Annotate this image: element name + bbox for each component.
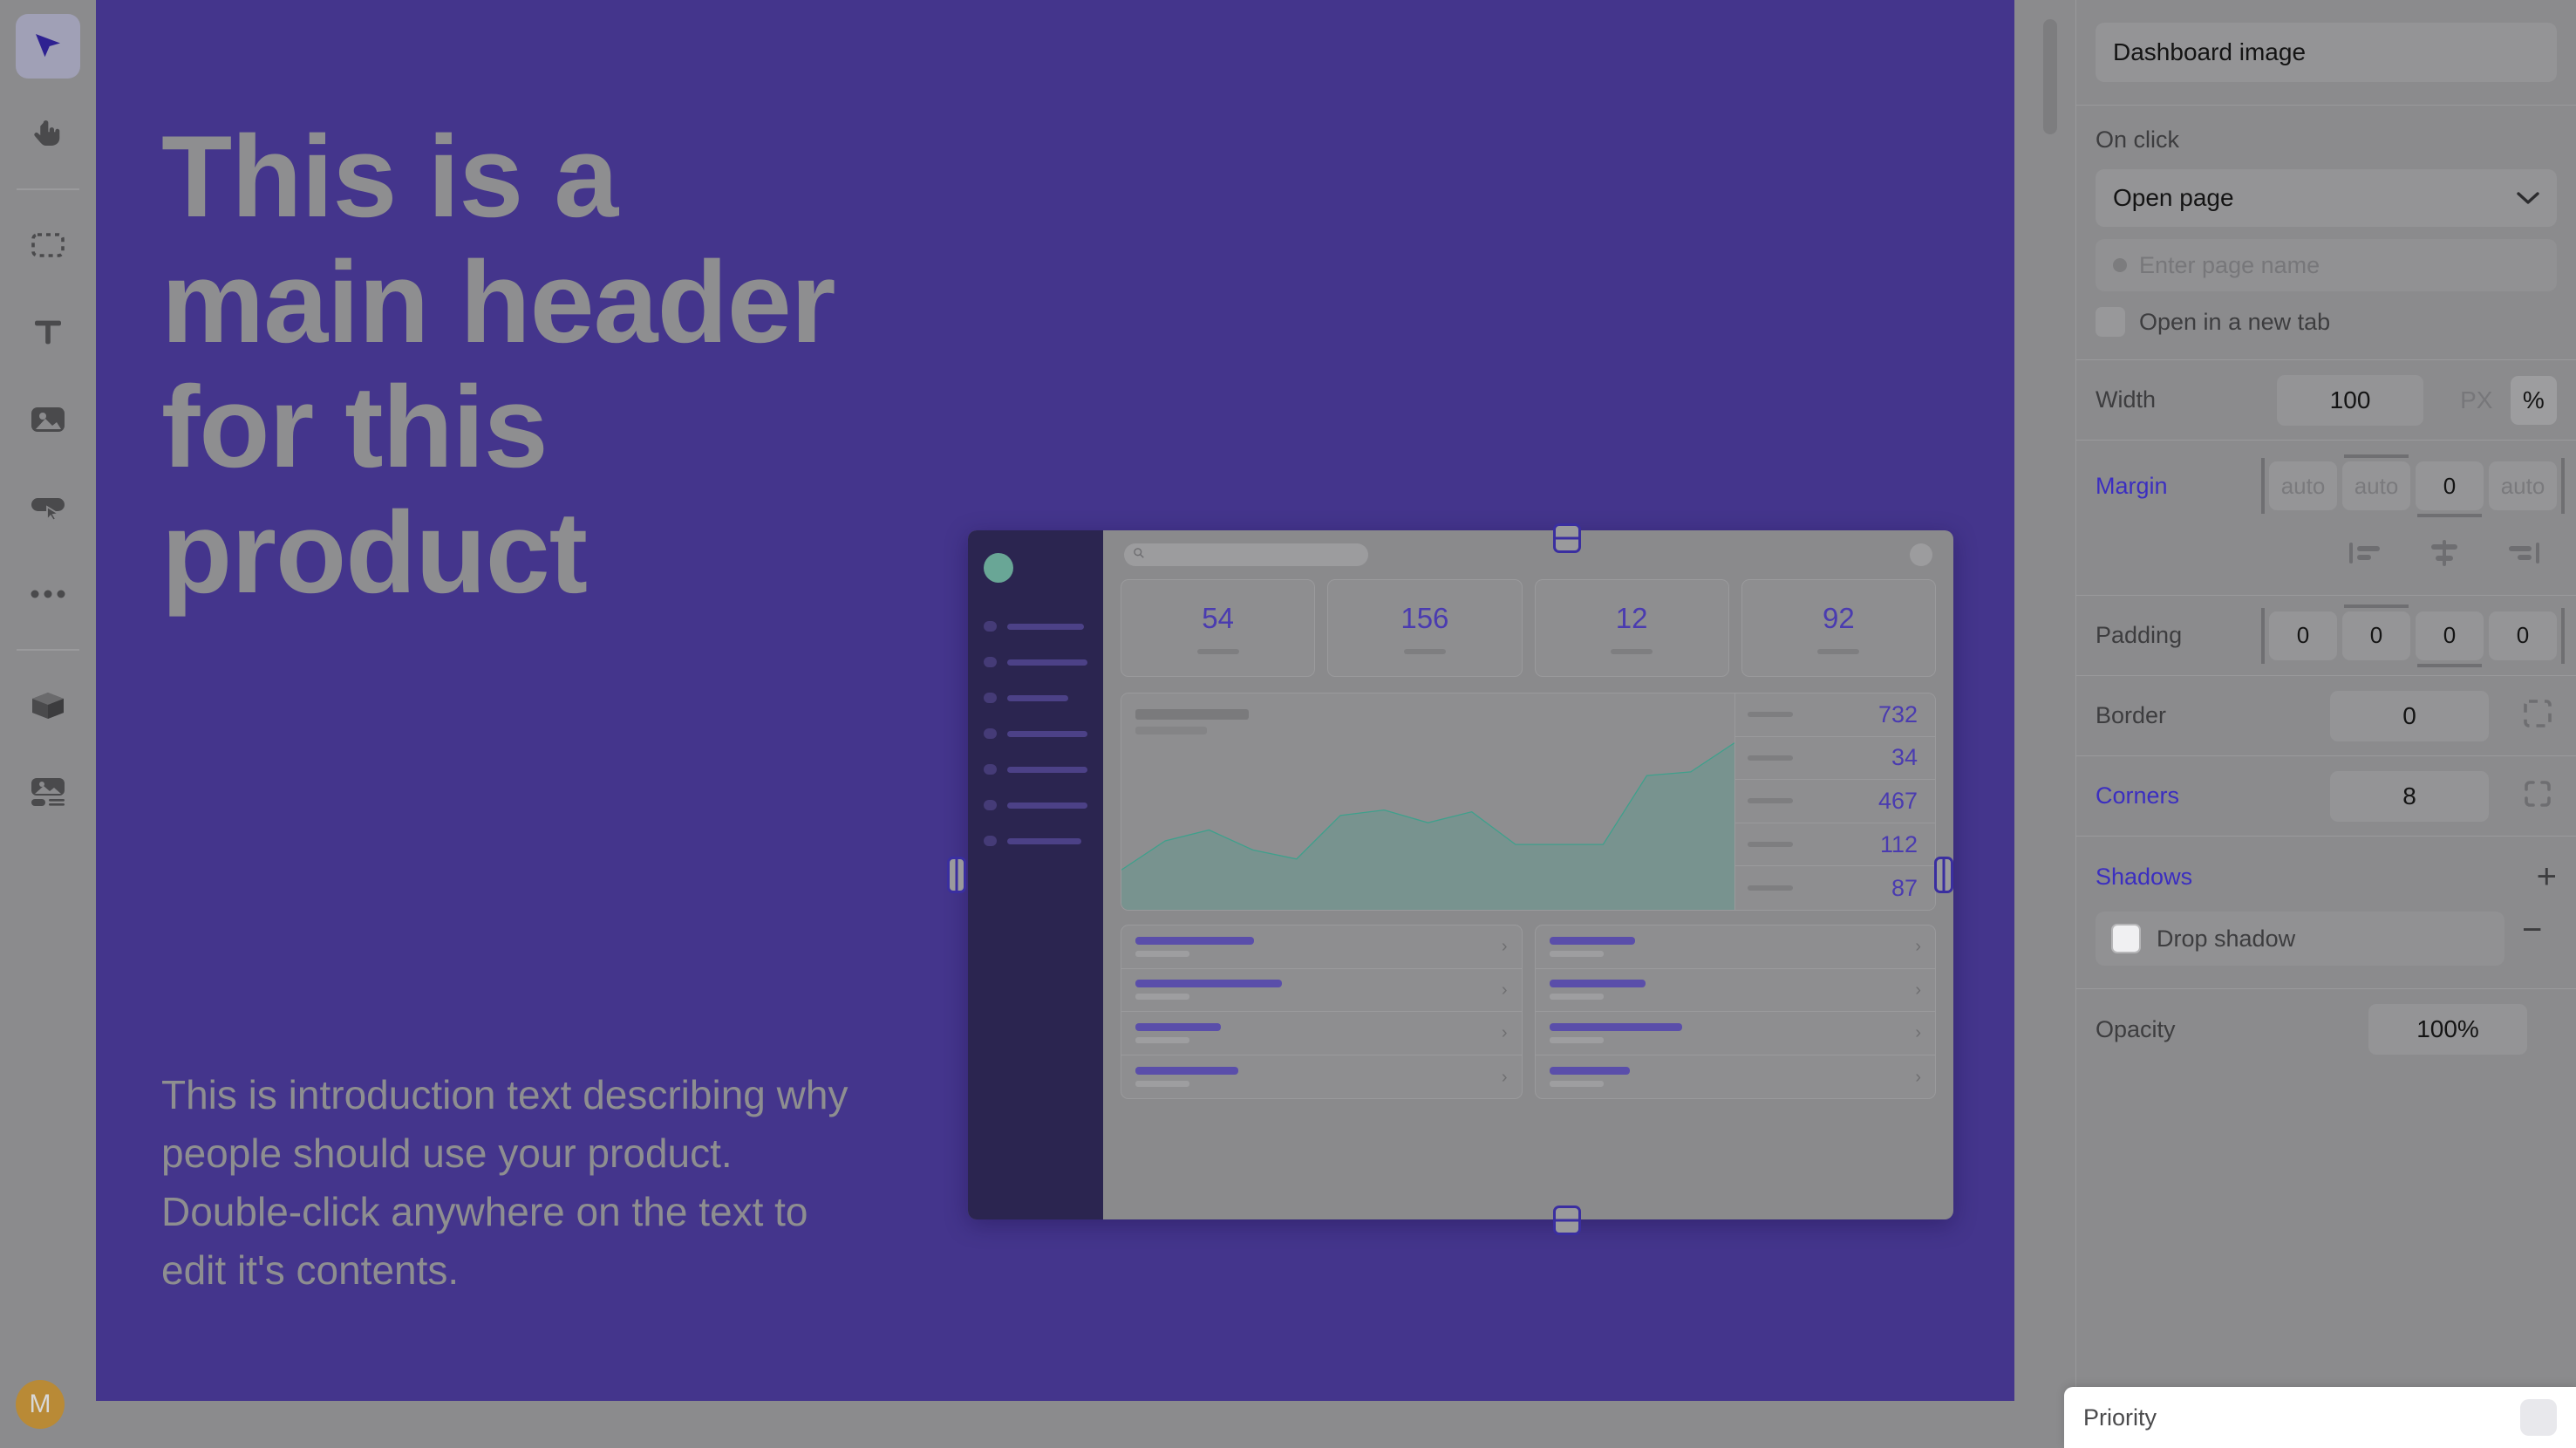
panel-padding-cell: 0 xyxy=(2269,611,2337,660)
mockup-side-list-row: 34 xyxy=(1735,737,1935,781)
panel-padding-value: 0 xyxy=(2370,622,2382,649)
mockup-list-row: › xyxy=(1536,969,1936,1013)
edge-left-marker xyxy=(2261,608,2265,664)
more-tool[interactable] xyxy=(16,562,80,626)
hero-body-text[interactable]: This is introduction text describing why… xyxy=(161,1066,868,1301)
shadows-label: Shadows xyxy=(2096,864,2192,891)
panel-padding-input[interactable]: 0 xyxy=(2269,611,2337,660)
mockup-list-panel: ›››› xyxy=(1535,925,1937,1099)
mockup-nav-item xyxy=(984,836,1087,846)
edge-left-marker xyxy=(2261,458,2265,514)
dashed-rectangle-icon xyxy=(31,231,65,259)
marquee-tool[interactable] xyxy=(16,213,80,277)
mockup-side-list-row: 467 xyxy=(1735,780,1935,823)
mockup-list-row: › xyxy=(1536,1055,1936,1099)
priority-bar[interactable]: Priority xyxy=(2064,1387,2576,1448)
edge-right-marker xyxy=(2561,458,2565,514)
align-center-icon[interactable] xyxy=(2424,538,2464,572)
margin-inputs: autoauto0auto xyxy=(2252,461,2557,510)
corners-input[interactable]: 8 xyxy=(2330,771,2489,822)
mockup-nav-bar xyxy=(1007,767,1087,773)
mockup-list-row-texts xyxy=(1135,937,1493,957)
mockup-side-list-row: 732 xyxy=(1735,693,1935,737)
cursor-arrow-icon xyxy=(30,28,66,65)
mockup-list-row-subtitle xyxy=(1550,994,1604,1000)
text-tool[interactable] xyxy=(16,300,80,365)
mockup-side-row-bar xyxy=(1748,798,1793,803)
mockup-list-row: › xyxy=(1536,1012,1936,1055)
margin-label: Margin xyxy=(2096,473,2252,500)
mockup-sidebar xyxy=(968,530,1103,1219)
page-name-placeholder: Enter page name xyxy=(2139,252,2320,279)
corners-section: Corners 8 xyxy=(2076,756,2576,837)
mockup-nav-item xyxy=(984,657,1087,667)
dashboard-image[interactable]: 541561292 7323446711287 ›››››››› xyxy=(968,530,1953,1219)
mockup-stat-value: 92 xyxy=(1823,602,1855,635)
mockup-stat-bar xyxy=(1197,649,1239,654)
mockup-side-row-value: 34 xyxy=(1891,744,1918,771)
panel-margin-value: auto xyxy=(2355,473,2399,500)
toolbar-divider xyxy=(17,188,79,190)
mockup-list-row-subtitle xyxy=(1550,1037,1604,1043)
mockup-nav-dot-icon xyxy=(984,621,997,632)
mockup-list-row-subtitle xyxy=(1135,1081,1189,1087)
mockup-side-row-value: 467 xyxy=(1878,788,1918,815)
chevron-right-icon: › xyxy=(1915,981,1921,999)
mockup-nav-bar xyxy=(1007,838,1081,844)
mockup-list-row-subtitle xyxy=(1135,1037,1189,1043)
mockup-side-row-bar xyxy=(1748,885,1793,891)
panel-margin-value: auto xyxy=(2281,473,2326,500)
mockup-area-chart xyxy=(1121,693,1734,910)
mockup-list-row-texts xyxy=(1135,980,1493,1000)
mockup-nav-bar xyxy=(1007,624,1084,630)
mockup-list-row-title xyxy=(1135,1067,1238,1075)
mockup-side-row-value: 87 xyxy=(1891,875,1918,902)
panel-padding-input[interactable]: 0 xyxy=(2489,611,2557,660)
search-icon xyxy=(1133,547,1145,563)
mockup-list-row-subtitle xyxy=(1550,951,1604,957)
mockup-side-row-value: 112 xyxy=(1880,831,1918,858)
page-name-input[interactable]: Enter page name xyxy=(2096,239,2557,291)
mockup-list-row: › xyxy=(1121,1055,1522,1099)
align-left-icon[interactable] xyxy=(2346,538,2386,572)
mockup-list-panel: ›››› xyxy=(1121,925,1523,1099)
margin-align-buttons xyxy=(2096,519,2557,577)
mockup-list-row-title xyxy=(1550,980,1646,987)
mockup-list-row-texts xyxy=(1135,1067,1493,1087)
mockup-list-row-texts xyxy=(1135,1023,1493,1043)
chevron-right-icon: › xyxy=(1915,1069,1921,1086)
onclick-label: On click xyxy=(2096,126,2557,154)
drop-shadow-label: Drop shadow xyxy=(2157,925,2295,953)
hand-tool[interactable] xyxy=(16,101,80,166)
new-tab-checkbox[interactable] xyxy=(2096,307,2125,337)
opacity-section: Opacity 100% xyxy=(2076,989,2576,1069)
border-sides-icon[interactable] xyxy=(2518,694,2557,737)
panel-margin-input[interactable]: 0 xyxy=(2416,461,2484,510)
width-unit-percent-label: % xyxy=(2523,386,2545,414)
mockup-list-row-title xyxy=(1550,1023,1682,1031)
shadow-item-row: Drop shadow − xyxy=(2096,894,2557,988)
border-input[interactable]: 0 xyxy=(2330,691,2489,741)
mockup-list-panels: ›››››››› xyxy=(1103,911,1953,1099)
align-right-icon[interactable] xyxy=(2503,538,2543,572)
mockup-side-row-bar xyxy=(1748,712,1793,717)
opacity-label: Opacity xyxy=(2096,1016,2252,1043)
mockup-chart-row: 7323446711287 xyxy=(1121,693,1936,911)
mockup-nav-bar xyxy=(1007,659,1087,666)
mockup-side-row-value: 732 xyxy=(1878,701,1918,728)
image-tool[interactable] xyxy=(16,387,80,452)
priority-label: Priority xyxy=(2083,1404,2157,1431)
mockup-stat-value: 156 xyxy=(1400,602,1448,635)
element-name-input[interactable]: Dashboard image xyxy=(2096,23,2557,82)
edge-bottom-marker xyxy=(2417,664,2482,667)
panel-padding-input[interactable]: 0 xyxy=(2342,611,2410,660)
padding-label: Padding xyxy=(2096,622,2252,649)
shadows-header: Shadows + xyxy=(2096,837,2557,894)
width-section: Width 100 PX % xyxy=(2076,360,2576,441)
panel-margin-value: 0 xyxy=(2443,473,2456,500)
width-unit-percent[interactable]: % xyxy=(2511,376,2557,425)
priority-toggle[interactable] xyxy=(2520,1399,2557,1436)
mockup-logo-icon xyxy=(984,553,1013,583)
left-toolbar: M xyxy=(0,0,96,1448)
chevron-right-icon: › xyxy=(1502,1069,1508,1086)
mockup-list-row-subtitle xyxy=(1135,951,1189,957)
panel-padding-value: 0 xyxy=(2297,622,2309,649)
chevron-right-icon: › xyxy=(1502,981,1508,999)
select-tool[interactable] xyxy=(16,14,80,79)
chevron-right-icon: › xyxy=(1915,938,1921,955)
mockup-nav-bar xyxy=(1007,695,1068,701)
mockup-side-row-bar xyxy=(1748,755,1793,761)
panel-padding-cell: 0 xyxy=(2416,611,2484,660)
opacity-value: 100% xyxy=(2416,1015,2479,1043)
properties-panel: Dashboard image On click Open page Enter… xyxy=(2075,0,2576,1448)
image-text-icon xyxy=(29,776,67,809)
new-tab-row[interactable]: Open in a new tab xyxy=(2096,307,2557,337)
mockup-list-row-title xyxy=(1550,937,1635,945)
panel-margin-cell: auto xyxy=(2269,461,2337,510)
padding-section: Padding 0000 xyxy=(2076,596,2576,676)
mockup-stat-card: 156 xyxy=(1327,579,1522,677)
mockup-list-row-title xyxy=(1135,937,1254,945)
mockup-list-row-texts xyxy=(1550,1067,1907,1087)
panel-padding-input[interactable]: 0 xyxy=(2416,611,2484,660)
mockup-side-list: 7323446711287 xyxy=(1734,693,1935,910)
mockup-side-list-row: 112 xyxy=(1735,823,1935,867)
new-tab-label: Open in a new tab xyxy=(2139,309,2330,336)
margin-section: Margin autoauto0auto xyxy=(2076,441,2576,596)
panel-margin-cell: auto xyxy=(2342,461,2410,510)
border-section: Border 0 xyxy=(2076,676,2576,756)
width-input[interactable]: 100 xyxy=(2277,375,2423,426)
panel-margin-input[interactable]: auto xyxy=(2489,461,2557,510)
onclick-select-value: Open page xyxy=(2113,184,2234,212)
width-label: Width xyxy=(2096,386,2252,413)
panel-margin-cell: 0 xyxy=(2416,461,2484,510)
edge-bottom-marker xyxy=(2417,514,2482,517)
mockup-list-row-texts xyxy=(1550,1023,1907,1043)
panel-padding-cell: 0 xyxy=(2342,611,2410,660)
button-click-icon xyxy=(29,491,67,523)
chart-title-placeholder xyxy=(1135,709,1249,720)
image-icon xyxy=(29,404,67,435)
onclick-select[interactable]: Open page xyxy=(2096,169,2557,227)
panel-margin-value: auto xyxy=(2501,473,2545,500)
mockup-list-row: › xyxy=(1121,1012,1522,1055)
shadows-section: Shadows + Drop shadow − xyxy=(2076,837,2576,989)
mockup-main: 541561292 7323446711287 ›››››››› xyxy=(1103,530,1953,1219)
mockup-nav-item xyxy=(984,800,1087,810)
width-value: 100 xyxy=(2330,386,2371,414)
onclick-section: On click Open page Enter page name Open … xyxy=(2076,106,2576,360)
selection-handle-bottom[interactable] xyxy=(1553,1206,1581,1235)
ellipsis-icon xyxy=(29,589,67,599)
mockup-nav-dot-icon xyxy=(984,764,997,775)
mockup-stat-bar xyxy=(1611,649,1653,654)
avatar-initial: M xyxy=(30,1390,51,1419)
selection-handle-right[interactable] xyxy=(1934,857,1953,893)
page-dot-icon xyxy=(2113,258,2127,272)
add-shadow-button[interactable]: + xyxy=(2537,859,2557,894)
mockup-list-row-title xyxy=(1135,980,1282,987)
panel-margin-input[interactable]: auto xyxy=(2269,461,2337,510)
mockup-nav-dot-icon xyxy=(984,836,997,846)
mockup-list-row: › xyxy=(1121,969,1522,1013)
edge-top-marker xyxy=(2344,454,2409,458)
mockup-stat-card: 12 xyxy=(1535,579,1729,677)
panel-margin-cell: auto xyxy=(2489,461,2557,510)
component-tool[interactable] xyxy=(16,673,80,738)
drop-shadow-item[interactable]: Drop shadow xyxy=(2096,912,2504,966)
mockup-list-row-subtitle xyxy=(1550,1081,1604,1087)
mockup-nav-item xyxy=(984,764,1087,775)
mockup-nav-dot-icon xyxy=(984,657,997,667)
toolbar-divider-2 xyxy=(17,649,79,651)
corner-radius-icon[interactable] xyxy=(2518,775,2557,817)
mockup-nav-item xyxy=(984,728,1087,739)
chevron-right-icon: › xyxy=(1502,938,1508,955)
panel-padding-value: 0 xyxy=(2517,622,2529,649)
chevron-right-icon: › xyxy=(1502,1024,1508,1042)
user-avatar[interactable]: M xyxy=(16,1380,65,1429)
selection-handle-left[interactable] xyxy=(947,857,966,893)
mockup-nav-dot-icon xyxy=(984,693,997,703)
mockup-nav-bar xyxy=(1007,731,1087,737)
mockup-stat-value: 54 xyxy=(1202,602,1234,635)
remove-shadow-button[interactable]: − xyxy=(2522,912,2542,947)
mockup-stat-card: 54 xyxy=(1121,579,1315,677)
panel-margin-input[interactable]: auto xyxy=(2342,461,2410,510)
panel-padding-value: 0 xyxy=(2443,622,2456,649)
canvas-scrollbar[interactable] xyxy=(2043,19,2057,134)
mockup-nav-item xyxy=(984,621,1087,632)
edge-right-marker xyxy=(2561,608,2565,664)
mockup-nav-dot-icon xyxy=(984,800,997,810)
mockup-stat-value: 12 xyxy=(1616,602,1648,635)
border-label: Border xyxy=(2096,702,2252,729)
mockup-stat-card: 92 xyxy=(1741,579,1936,677)
mockup-stat-bar xyxy=(1817,649,1859,654)
padding-inputs: 0000 xyxy=(2252,611,2557,660)
corners-label: Corners xyxy=(2096,782,2252,809)
border-value: 0 xyxy=(2402,702,2416,730)
mockup-nav-list xyxy=(984,621,1087,846)
mockup-avatar xyxy=(1910,543,1932,566)
mockup-side-list-row: 87 xyxy=(1735,866,1935,910)
mockup-list-row-texts xyxy=(1550,937,1907,957)
mockup-side-row-bar xyxy=(1748,842,1793,847)
mockup-topbar xyxy=(1103,530,1953,579)
mockup-stat-bar xyxy=(1404,649,1446,654)
mockup-nav-item xyxy=(984,693,1087,703)
selection-handle-top[interactable] xyxy=(1553,523,1581,553)
mockup-list-row: › xyxy=(1121,925,1522,969)
width-unit-px[interactable]: PX xyxy=(2453,376,2499,425)
mockup-search-input xyxy=(1124,543,1368,566)
chart-svg xyxy=(1121,728,1734,910)
chevron-down-icon xyxy=(2515,184,2541,212)
width-unit-px-label: PX xyxy=(2460,386,2492,414)
element-name-value: Dashboard image xyxy=(2113,38,2306,66)
hero-title[interactable]: This is a main header for this product xyxy=(161,115,876,617)
mockup-stat-cards: 541561292 xyxy=(1103,579,1953,677)
drop-shadow-checkbox[interactable] xyxy=(2111,924,2141,953)
panel-padding-cell: 0 xyxy=(2489,611,2557,660)
mockup-list-row-subtitle xyxy=(1135,994,1189,1000)
opacity-input[interactable]: 100% xyxy=(2368,1004,2527,1055)
button-tool[interactable] xyxy=(16,475,80,539)
cube-icon xyxy=(29,689,67,722)
hand-pointer-icon xyxy=(30,115,66,152)
mockup-list-row-title xyxy=(1135,1023,1221,1031)
edge-top-marker xyxy=(2344,604,2409,608)
chevron-right-icon: › xyxy=(1915,1024,1921,1042)
mockup-list-row-title xyxy=(1550,1067,1630,1075)
name-section: Dashboard image xyxy=(2076,23,2576,106)
media-text-tool[interactable] xyxy=(16,761,80,825)
corners-value: 8 xyxy=(2402,782,2416,810)
mockup-nav-dot-icon xyxy=(984,728,997,739)
mockup-list-row: › xyxy=(1536,925,1936,969)
mockup-nav-bar xyxy=(1007,803,1087,809)
mockup-list-row-texts xyxy=(1550,980,1907,1000)
text-t-icon xyxy=(31,315,65,350)
design-canvas[interactable]: This is a main header for this product T… xyxy=(96,0,2014,1401)
